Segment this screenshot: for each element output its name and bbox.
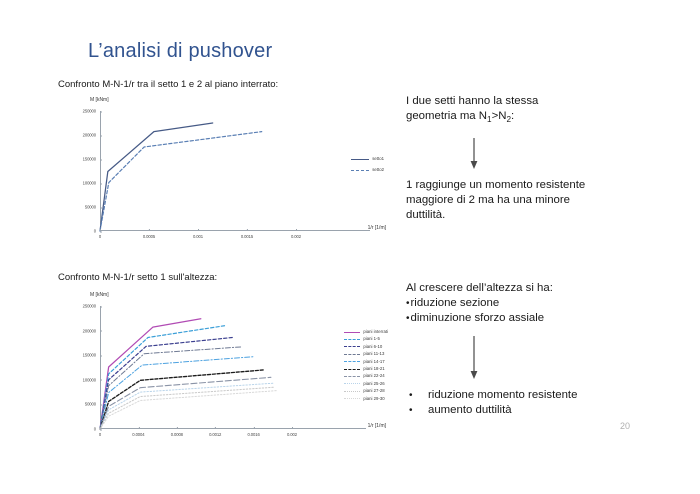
text-line: duttilità. xyxy=(406,208,656,223)
text-line: 1 raggiunge un momento resistente xyxy=(406,178,656,193)
legend-item[interactable]: piani 1-5 xyxy=(344,337,388,341)
chart1-legend: setto1setto2 xyxy=(351,157,384,173)
legend-item[interactable]: setto2 xyxy=(351,168,384,172)
chart2-y-tick: 250000 xyxy=(83,304,100,309)
text-fragment: >N xyxy=(492,110,507,122)
text-fragment: : xyxy=(511,110,514,122)
chart1-y-tick: 250000 xyxy=(83,109,100,114)
chart1-series-svg xyxy=(100,111,296,231)
series-line-piani-22-24 xyxy=(100,377,271,429)
bullet-item: aumento duttilità xyxy=(406,403,656,418)
legend-swatch xyxy=(344,398,360,399)
legend-swatch xyxy=(344,376,360,377)
series-line-setto2 xyxy=(100,132,262,231)
legend-label: setto2 xyxy=(372,168,384,172)
legend-label: piani 11-13 xyxy=(363,352,384,356)
chart2-x-tick: 0.0012 xyxy=(209,429,221,437)
legend-item[interactable]: piani 18-21 xyxy=(344,367,388,371)
chart1-y-tick: 150000 xyxy=(83,157,100,162)
chart2-x-tick: 0.0004 xyxy=(132,429,144,437)
chart2-legend: piani interratipiani 1-5piani 6-10piani … xyxy=(344,330,388,401)
series-line-setto1 xyxy=(100,123,213,231)
legend-label: piani interrati xyxy=(363,330,388,334)
legend-label: piani 25-26 xyxy=(363,382,384,386)
chart2-x-tick: 0.0016 xyxy=(247,429,259,437)
page-number: 20 xyxy=(620,421,630,431)
slide-canvas: L’analisi di pushover Confronto M-N-1/r … xyxy=(0,0,700,494)
page-title: L’analisi di pushover xyxy=(88,40,272,63)
down-arrow-icon-2 xyxy=(468,336,480,380)
legend-item[interactable]: piani 29-30 xyxy=(344,397,388,401)
bullet-item: riduzione momento resistente xyxy=(406,388,656,403)
chart1-y-tick: 200000 xyxy=(83,133,100,138)
legend-item[interactable]: piani 11-13 xyxy=(344,352,388,356)
bullet-list: riduzione momento resistente aumento dut… xyxy=(406,388,656,418)
text-block-conclusion-2: riduzione momento resistente aumento dut… xyxy=(406,388,656,418)
series-line-piani-27-28 xyxy=(100,387,275,429)
legend-item[interactable]: piani 14-17 xyxy=(344,360,388,364)
text-fragment: geometria ma N xyxy=(406,110,487,122)
legend-swatch xyxy=(351,159,369,160)
legend-swatch xyxy=(351,170,369,171)
chart2-y-tick: 50000 xyxy=(85,402,100,407)
legend-swatch xyxy=(344,391,360,392)
chart2-caption: Confronto M-N-1/r setto 1 sull'altezza: xyxy=(58,272,217,283)
chart2-y-axis-title: M [kNm] xyxy=(90,292,109,298)
legend-item[interactable]: piani 27-28 xyxy=(344,389,388,393)
text-block-conclusion-1: 1 raggiunge un momento resistente maggio… xyxy=(406,178,656,224)
legend-item[interactable]: piani 6-10 xyxy=(344,345,388,349)
legend-label: piani 14-17 xyxy=(363,360,384,364)
chart2-plot-area: 05000010000015000020000025000000.00040.0… xyxy=(100,306,292,429)
chart-setto1-along-height: M [kNm] 1/r [1/m] 0500001000001500002000… xyxy=(58,290,388,455)
legend-label: piani 1-5 xyxy=(363,337,379,341)
chart1-y-axis-title: M [kNm] xyxy=(90,97,109,103)
chart1-x-axis-title: 1/r [1/m] xyxy=(368,225,386,231)
series-line-piani-14-17 xyxy=(100,357,254,429)
series-line-piani-18-21 xyxy=(100,370,263,429)
legend-label: piani 22-24 xyxy=(363,374,384,378)
text-block-geometry: I due setti hanno la stessa geometria ma… xyxy=(406,94,656,124)
chart2-series-svg xyxy=(100,306,292,429)
text-line: maggiore di 2 ma ha una minore xyxy=(406,193,656,208)
bullet-item: diminuzione sforzo assiale xyxy=(406,311,656,326)
legend-swatch xyxy=(344,339,360,340)
legend-swatch xyxy=(344,332,360,333)
subscript-1: 1 xyxy=(487,115,492,124)
legend-label: piani 6-10 xyxy=(363,345,382,349)
chart1-x-tick: 0.001 xyxy=(193,231,203,239)
chart1-plot-area: 05000010000015000020000025000000.00050.0… xyxy=(100,111,296,231)
legend-item[interactable]: piani interrati xyxy=(344,330,388,334)
chart1-y-tick: 50000 xyxy=(85,205,100,210)
subscript-2: 2 xyxy=(506,115,511,124)
chart1-x-tick: 0.0005 xyxy=(143,231,155,239)
legend-swatch xyxy=(344,383,360,384)
chart2-x-tick: 0.0008 xyxy=(171,429,183,437)
legend-label: piani 27-28 xyxy=(363,389,384,393)
text-heading: Al crescere dell’altezza si ha: xyxy=(406,281,656,296)
chart1-x-tick: 0.0015 xyxy=(241,231,253,239)
legend-item[interactable]: piani 25-26 xyxy=(344,382,388,386)
text-line: I due setti hanno la stessa xyxy=(406,94,656,109)
bullet-item: riduzione sezione xyxy=(406,296,656,311)
legend-label: piani 18-21 xyxy=(363,367,384,371)
down-arrow-icon-1 xyxy=(468,138,480,170)
text-line-subscripted: geometria ma N1>N2: xyxy=(406,109,656,124)
chart2-y-tick: 150000 xyxy=(83,353,100,358)
legend-item[interactable]: piani 22-24 xyxy=(344,374,388,378)
chart2-y-tick: 200000 xyxy=(83,328,100,333)
chart1-x-tick: 0.002 xyxy=(291,231,301,239)
chart-comparison-setto1-setto2: M [kNm] 1/r [1/m] 0500001000001500002000… xyxy=(58,95,388,255)
legend-swatch xyxy=(344,354,360,355)
chart2-x-tick: 0.002 xyxy=(287,429,297,437)
legend-swatch xyxy=(344,361,360,362)
series-line-piani-1-5 xyxy=(100,326,225,429)
chart1-x-tick: 0 xyxy=(99,231,101,239)
chart2-x-tick: 0 xyxy=(99,429,101,437)
chart2-x-axis-title: 1/r [1/m] xyxy=(368,423,386,429)
chart1-caption: Confronto M-N-1/r tra il setto 1 e 2 al … xyxy=(58,79,278,90)
legend-label: setto1 xyxy=(372,157,384,161)
legend-item[interactable]: setto1 xyxy=(351,157,384,161)
chart1-y-tick: 100000 xyxy=(83,181,100,186)
legend-swatch xyxy=(344,369,360,370)
legend-label: piani 29-30 xyxy=(363,397,384,401)
legend-swatch xyxy=(344,346,360,347)
text-block-height-effects: Al crescere dell’altezza si ha: riduzion… xyxy=(406,281,656,327)
chart2-y-tick: 100000 xyxy=(83,377,100,382)
